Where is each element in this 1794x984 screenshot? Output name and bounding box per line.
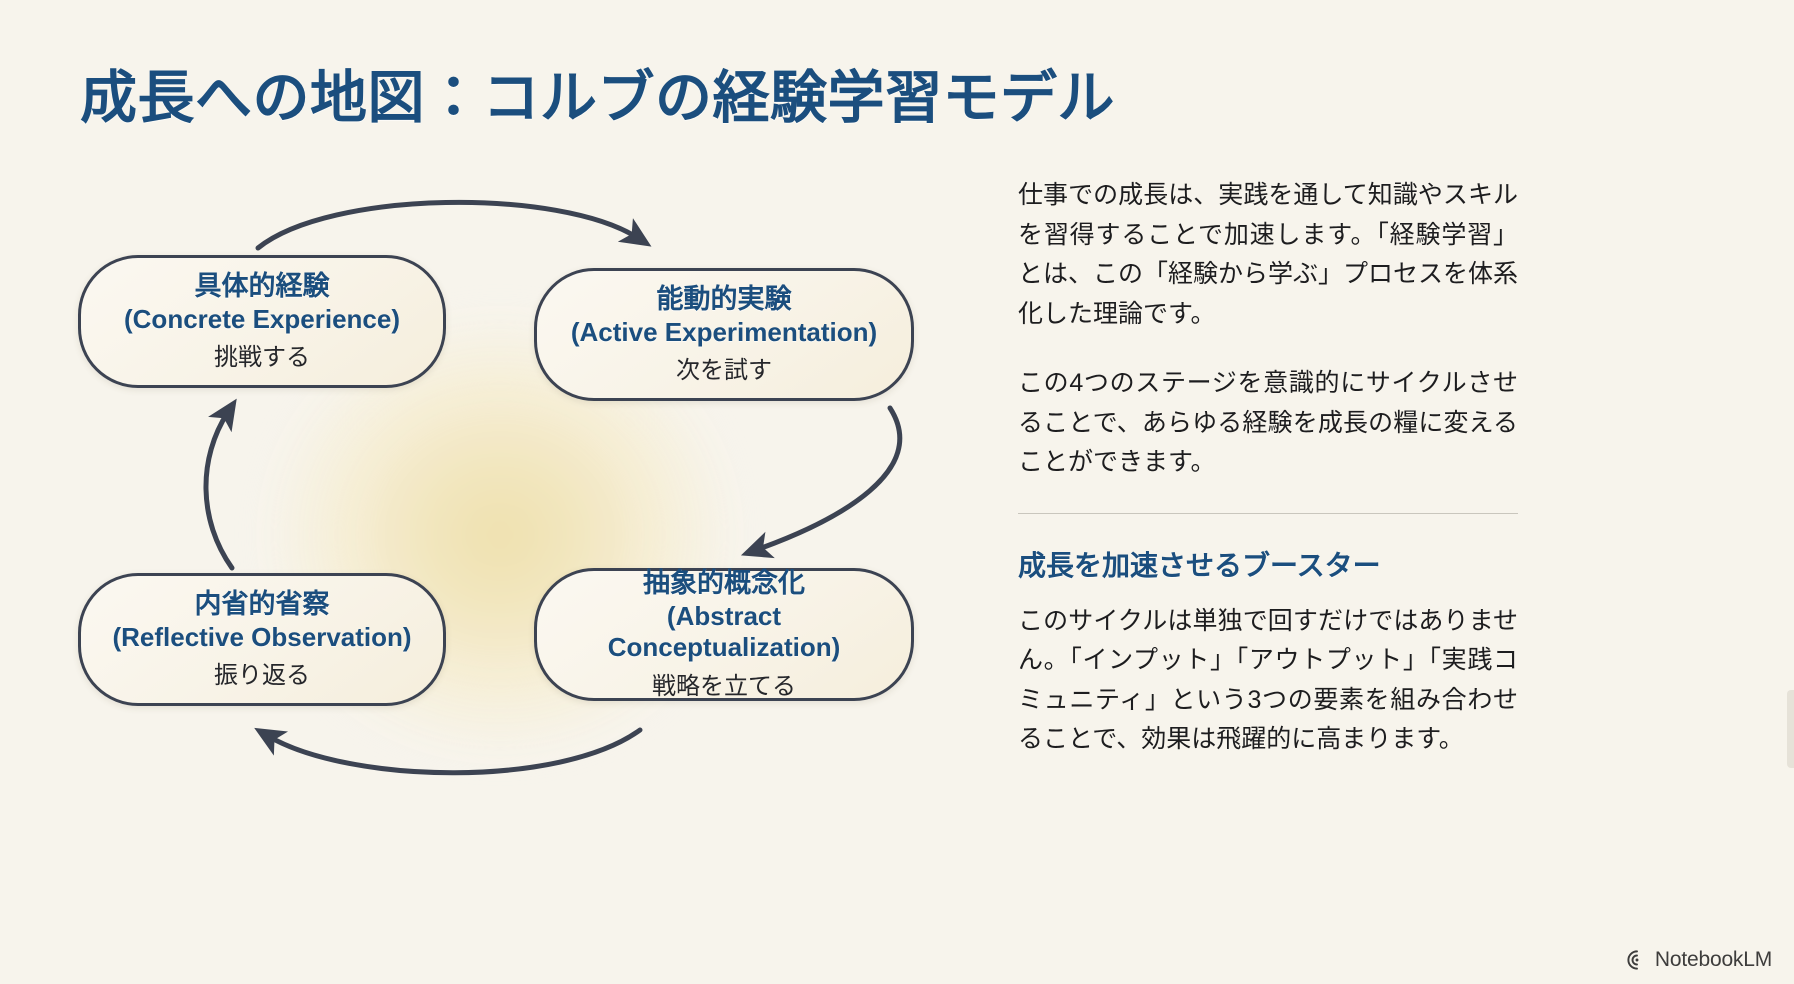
stage-label-en: (Concrete Experience) — [124, 304, 400, 336]
stage-label-sub: 次を試す — [676, 356, 772, 386]
arrow-concrete-to-active — [258, 202, 638, 248]
arrow-active-to-abstract — [756, 408, 900, 550]
stage-box-active-experimentation[interactable]: 能動的実験 (Active Experimentation) 次を試す — [534, 268, 914, 401]
notebooklm-watermark: NotebookLM — [1626, 948, 1772, 972]
stage-label-en: (Abstract Conceptualization) — [551, 601, 897, 664]
panel-paragraph-3: このサイクルは単独で回すだけではありません。「インプット」「アウトプット」「実践… — [1018, 602, 1518, 760]
arrow-abstract-to-reflective — [268, 730, 640, 773]
stage-label-ja: 内省的省察 — [195, 588, 330, 621]
panel-divider — [1018, 513, 1518, 514]
stage-label-en: (Active Experimentation) — [571, 317, 877, 349]
watermark-label: NotebookLM — [1655, 948, 1772, 972]
notebooklm-logo-icon — [1626, 949, 1648, 971]
page-title: 成長への地図：コルブの経験学習モデル — [80, 52, 1115, 134]
stage-label-sub: 振り返る — [214, 661, 310, 691]
booster-heading: 成長を加速させるブースター — [1018, 544, 1518, 584]
stage-label-ja: 能動的実験 — [657, 283, 792, 316]
stage-label-en: (Reflective Observation) — [112, 622, 411, 654]
slide-canvas: 成長への地図：コルブの経験学習モデル 具体的経験 (Concrete Exper… — [0, 0, 1794, 984]
kolb-cycle-diagram: 具体的経験 (Concrete Experience) 挑戦する 能動的実験 (… — [0, 150, 1000, 870]
explanation-panel: 仕事での成長は、実践を通して知識やスキルを習得することで加速します。「経験学習」… — [1018, 176, 1518, 760]
arrow-reflective-to-concrete — [206, 412, 232, 568]
stage-box-concrete-experience[interactable]: 具体的経験 (Concrete Experience) 挑戦する — [78, 255, 446, 388]
panel-paragraph-2: この4つのステージを意識的にサイクルさせることで、あらゆる経験を成長の糧に変える… — [1018, 364, 1518, 483]
stage-label-sub: 戦略を立てる — [652, 672, 796, 702]
stage-box-abstract-conceptualization[interactable]: 抽象的概念化 (Abstract Conceptualization) 戦略を立… — [534, 568, 914, 701]
stage-label-ja: 具体的経験 — [195, 270, 330, 303]
stage-label-sub: 挑戦する — [214, 343, 310, 373]
slide-edge-sliver — [1787, 690, 1794, 768]
panel-paragraph-1: 仕事での成長は、実践を通して知識やスキルを習得することで加速します。「経験学習」… — [1018, 176, 1518, 334]
stage-label-ja: 抽象的概念化 — [643, 567, 805, 600]
stage-box-reflective-observation[interactable]: 内省的省察 (Reflective Observation) 振り返る — [78, 573, 446, 706]
